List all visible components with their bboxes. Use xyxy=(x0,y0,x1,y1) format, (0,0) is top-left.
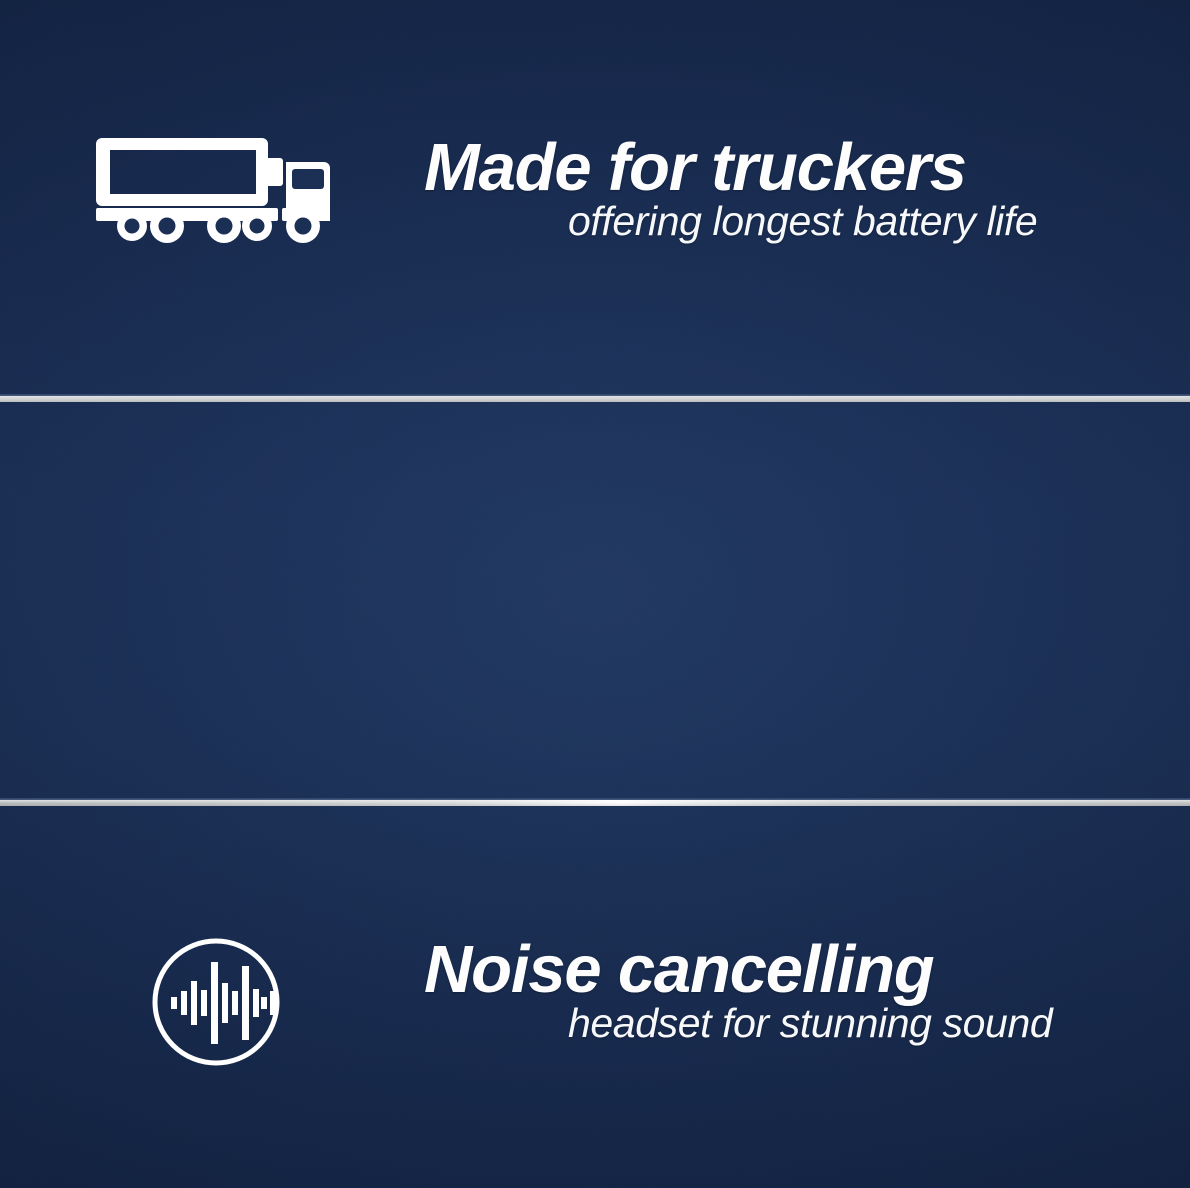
feature-headline: Made for truckers xyxy=(424,137,1124,199)
truck-battery-icon xyxy=(96,136,328,244)
panel-divider-2 xyxy=(0,798,1190,806)
feature-panel-bluetooth: Bluetooth 5.0 including all headphone pr… xyxy=(0,806,1190,1188)
feature-subline: offering longest battery life xyxy=(424,199,1124,245)
feature-panel-truckers: Made for truckers offering longest batte… xyxy=(0,0,1190,394)
panel-divider-1 xyxy=(0,394,1190,402)
feature-text-truckers: Made for truckers offering longest batte… xyxy=(424,137,1124,245)
feature-panel-noise-cancelling: Noise cancelling headset for stunning so… xyxy=(0,402,1190,798)
feature-banner: Made for truckers offering longest batte… xyxy=(0,0,1190,1188)
